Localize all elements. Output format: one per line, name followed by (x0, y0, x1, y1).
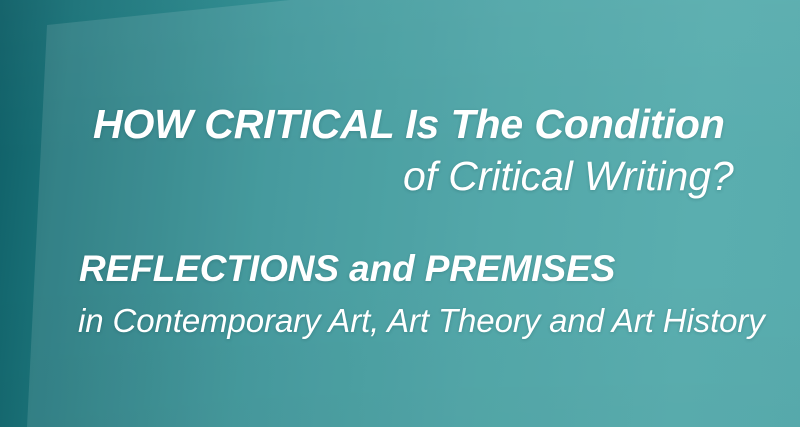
title-line-2: of Critical Writing? (403, 153, 734, 200)
angled-panel-shape (0, 0, 800, 427)
title-banner: HOW CRITICAL Is The Condition of Critica… (0, 0, 800, 427)
subtitle-line-2: in Contemporary Art, Art Theory and Art … (78, 302, 765, 340)
banner-text-layer: HOW CRITICAL Is The Condition of Critica… (0, 0, 800, 427)
subtitle-line-1: REFLECTIONS and PREMISES (79, 248, 615, 290)
title-line-1: HOW CRITICAL Is The Condition (93, 101, 725, 148)
background-shading (0, 0, 800, 427)
